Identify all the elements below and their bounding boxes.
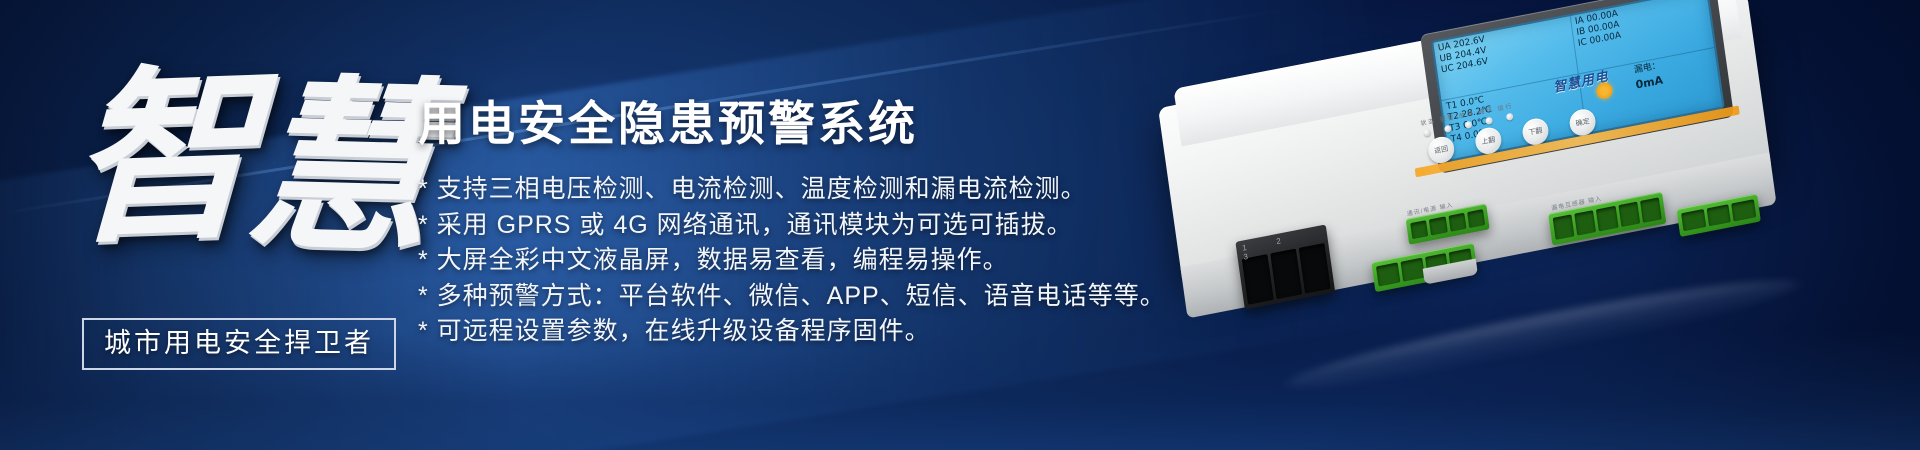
device-button-back[interactable]: 返回 <box>1427 135 1456 166</box>
lcd-t2-label: T2 <box>1447 111 1459 123</box>
terminal-pin <box>1449 248 1473 272</box>
terminal-pin <box>1400 258 1424 282</box>
connector-port <box>1270 249 1302 300</box>
device-black-connector: 1 2 3 <box>1235 224 1335 309</box>
status-led <box>1465 121 1473 129</box>
lcd-row-bottom: T1 0.0℃ T2 28.2℃ T3 0.0℃ T4 0.0℃ 漏电： 0mA <box>1441 48 1722 160</box>
lcd-t4-label: T4 <box>1450 133 1462 145</box>
device-body-group: UA 202.6V UB 204.4V UC 204.6V IA 00.00A … <box>1094 0 1847 407</box>
device-status-labels: 状态 报警 故障 通讯 运行 <box>1420 100 1514 127</box>
list-item: * 采用 GPRS 或 4G 网络通讯，通讯模块为可选可插拔。 <box>418 208 1166 244</box>
device-green-terminal <box>1548 192 1666 246</box>
device-led-row <box>1423 113 1513 137</box>
list-item: * 大屏全彩中文液晶屏，数据易查看，编程易操作。 <box>418 243 1166 279</box>
device-accent-stripe <box>1415 105 1740 177</box>
lcd-current-cell: IA 00.00A IB 00.00A IC 00.00A <box>1570 0 1714 74</box>
sun-icon <box>1595 81 1613 100</box>
terminal-label-communication: 通讯/电源 输入 <box>1406 200 1454 218</box>
list-item: * 可远程设置参数，在线升级设备程序固件。 <box>418 314 1166 350</box>
terminal-pin <box>1706 204 1731 226</box>
device-lcd-screen: UA 202.6V UB 204.4V UC 204.6V IA 00.00A … <box>1431 0 1725 162</box>
lcd-ia-value: IA 00.00A <box>1574 0 1704 28</box>
tagline-box: 城市用电安全捍卫者 <box>82 318 396 370</box>
device-button-row: 返回 上翻 下翻 确定 <box>1427 107 1598 165</box>
lcd-leakage-cell: 漏电： 0mA <box>1578 48 1722 133</box>
lcd-leakage-label: 漏电： <box>1583 51 1713 87</box>
terminal-pin <box>1732 199 1757 221</box>
lcd-ua-value: UA 202.6V <box>1437 19 1567 55</box>
device-button-up[interactable]: 上翻 <box>1474 125 1503 156</box>
device-main-housing <box>1158 0 1771 282</box>
status-led <box>1423 129 1431 137</box>
lcd-row-top: UA 202.6V UB 204.4V UC 204.6V IA 00.00A … <box>1433 0 1714 101</box>
lcd-t4-value: 0.0℃ <box>1464 128 1489 143</box>
lcd-ib-value: IB 00.00A <box>1576 3 1706 39</box>
calligraphy-char-hui: 慧 <box>239 76 439 257</box>
terminal-pin <box>1618 202 1640 227</box>
device-din-clip <box>1423 258 1478 284</box>
lcd-t3-label: T3 <box>1449 122 1461 134</box>
device-screen-bezel <box>1420 0 1734 174</box>
device-green-terminal <box>1406 203 1490 244</box>
background-glow-right <box>1097 0 1920 450</box>
lcd-ub-value: UB 204.4V <box>1439 30 1569 66</box>
status-led <box>1485 117 1493 125</box>
terminal-pin <box>1681 209 1706 231</box>
device-button-down[interactable]: 下翻 <box>1521 116 1550 147</box>
promo-banner: 智 慧 城市用电安全捍卫者 用电安全隐患预警系统 * 支持三相电压检测、电流检测… <box>0 0 1920 450</box>
terminal-pin <box>1376 262 1400 286</box>
lcd-uc-value: UC 204.6V <box>1441 41 1571 77</box>
page-title: 用电安全隐患预警系统 <box>418 85 918 154</box>
list-item: * 多种预警方式：平台软件、微信、APP、短信、语音电话等等。 <box>418 279 1166 315</box>
connector-port <box>1299 243 1331 294</box>
list-item: * 支持三相电压检测、电流检测、温度检测和漏电流检测。 <box>418 172 1166 208</box>
terminal-pin <box>1448 213 1466 232</box>
terminal-pin <box>1596 206 1618 231</box>
terminal-pin <box>1640 197 1662 222</box>
status-led <box>1444 125 1452 133</box>
device-front-face <box>1180 152 1776 318</box>
device-reflection <box>1285 265 1801 402</box>
product-image: UA 202.6V UB 204.4V UC 204.6V IA 00.00A … <box>1110 10 1900 430</box>
connector-numbers: 1 2 3 <box>1242 227 1329 261</box>
device-green-terminal <box>1676 194 1760 237</box>
feature-list: * 支持三相电压检测、电流检测、温度检测和漏电流检测。 * 采用 GPRS 或 … <box>418 172 1166 350</box>
terminal-pin <box>1410 220 1428 239</box>
lcd-t1-value: 0.0℃ <box>1460 95 1485 110</box>
terminal-pin <box>1429 217 1447 236</box>
device-brand-label: 智慧用电 <box>1552 65 1610 95</box>
calligraphy-char-zhi: 智 <box>67 66 254 249</box>
lcd-leakage-value: 0mA <box>1584 64 1714 102</box>
connector-port <box>1242 254 1274 305</box>
terminal-pin <box>1553 214 1575 239</box>
calligraphy-logo: 智 慧 <box>70 22 430 292</box>
lcd-t3-value: 0.0℃ <box>1463 117 1488 132</box>
device-button-ok[interactable]: 确定 <box>1568 107 1597 138</box>
terminal-pin <box>1467 209 1485 228</box>
lcd-temperature-cell: T1 0.0℃ T2 28.2℃ T3 0.0℃ T4 0.0℃ <box>1441 74 1586 159</box>
device-green-terminal <box>1371 243 1477 293</box>
lcd-t2-value: 28.2℃ <box>1461 105 1492 121</box>
status-led <box>1506 113 1514 121</box>
lcd-ic-value: IC 00.00A <box>1577 14 1707 50</box>
terminal-pin <box>1574 210 1596 235</box>
lcd-voltage-cell: UA 202.6V UB 204.4V UC 204.6V <box>1433 16 1578 101</box>
lcd-t1-label: T1 <box>1446 100 1458 112</box>
terminal-pin <box>1425 253 1449 277</box>
device-top-face <box>1174 0 1742 147</box>
terminal-label-leakage-sensor: 漏电互感器 输入 <box>1551 193 1603 212</box>
